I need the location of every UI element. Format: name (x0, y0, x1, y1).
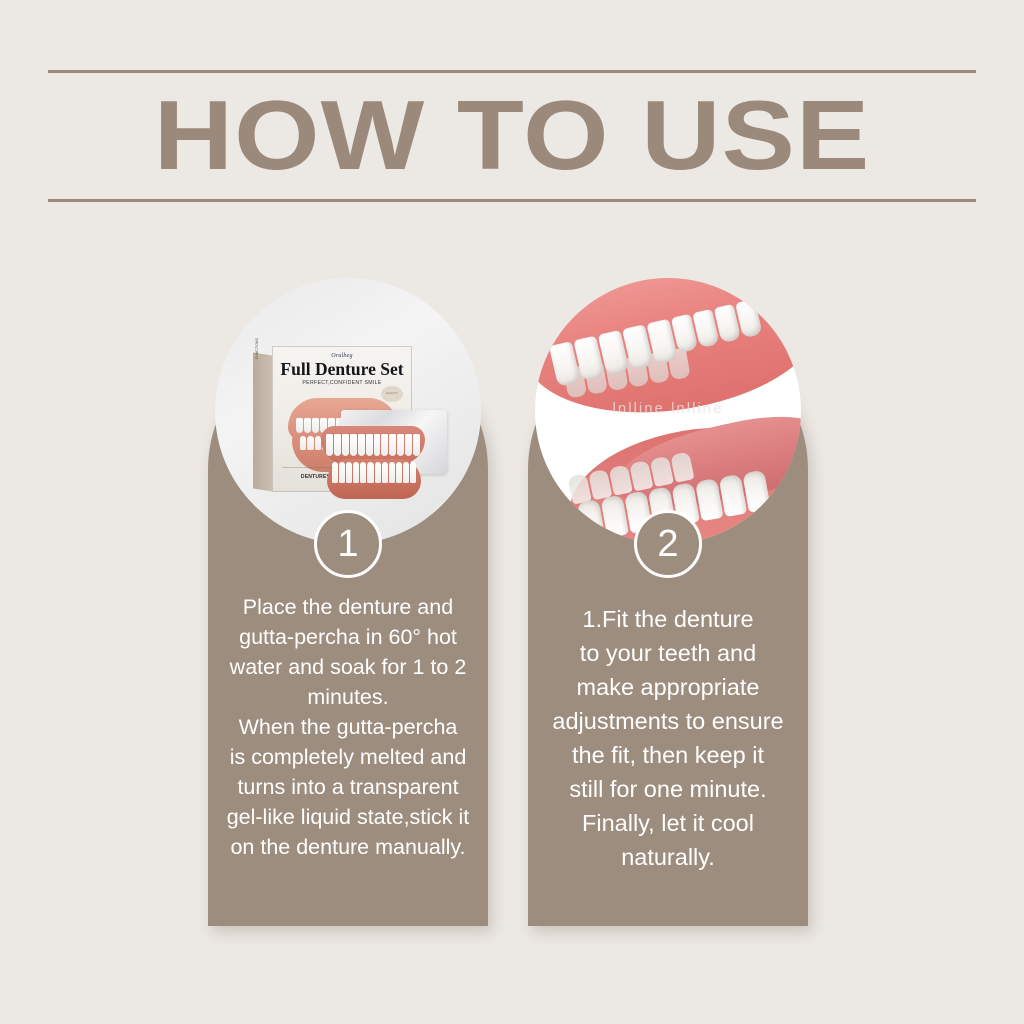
step-1-image: FUNCTIONS Oralbeg Full Denture Set PERFE… (215, 278, 481, 544)
step-card-2: lnlline lnlline 2 1.Fit the denture to y… (528, 330, 808, 926)
teeth-closeup-illustration: lnlline lnlline (535, 278, 801, 544)
step-text-2: 1.Fit the denture to your teeth and make… (528, 602, 808, 874)
product-quality-seal-label: QUALITY (381, 391, 403, 395)
denture-upper-teeth (326, 434, 420, 456)
denture-pair-graphic (321, 426, 425, 500)
step-badge-1: 1 (314, 510, 382, 578)
product-box-side-label: FUNCTIONS (255, 278, 260, 360)
step-2-image: lnlline lnlline (535, 278, 801, 544)
product-box-title: Full Denture Set (272, 360, 412, 379)
step-text-1: Place the denture and gutta-percha in 60… (208, 592, 488, 862)
steps-container: FUNCTIONS Oralbeg Full Denture Set PERFE… (0, 0, 1024, 1024)
denture-lower-teeth (332, 462, 416, 483)
product-box-side-panel: FUNCTIONS (253, 352, 273, 491)
product-box-illustration: FUNCTIONS Oralbeg Full Denture Set PERFE… (237, 340, 461, 500)
step-badge-2: 2 (634, 510, 702, 578)
step-card-1: FUNCTIONS Oralbeg Full Denture Set PERFE… (208, 330, 488, 926)
